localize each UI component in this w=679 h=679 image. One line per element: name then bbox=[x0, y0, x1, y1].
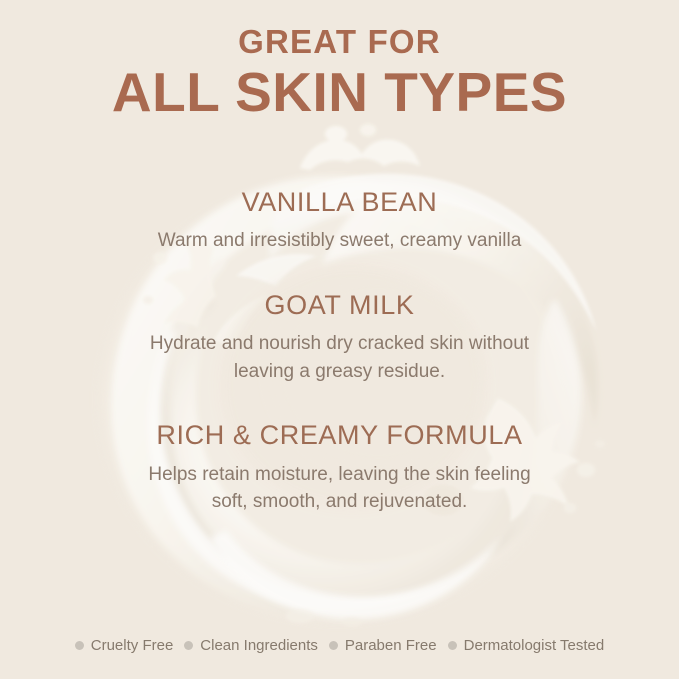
feature-description-line: Warm and irresistibly sweet, creamy vani… bbox=[0, 227, 679, 255]
feature-description: Helps retain moisture, leaving the skin … bbox=[0, 461, 679, 516]
badge-clean-ingredients: Clean Ingredients bbox=[184, 637, 318, 654]
feature-description: Hydrate and nourish dry cracked skin wit… bbox=[0, 330, 679, 385]
badge-dermatologist-tested: Dermatologist Tested bbox=[448, 637, 605, 654]
product-benefits-poster: GREAT FOR ALL SKIN TYPES VANILLA BEAN Wa… bbox=[0, 0, 679, 679]
feature-title: VANILLA BEAN bbox=[0, 186, 679, 218]
bullet-dot-icon bbox=[329, 641, 338, 650]
poster-content: GREAT FOR ALL SKIN TYPES VANILLA BEAN Wa… bbox=[0, 0, 679, 679]
claims-badge-row: Cruelty Free Clean Ingredients Paraben F… bbox=[0, 637, 679, 654]
badge-label: Cruelty Free bbox=[91, 637, 174, 654]
feature-goat-milk: GOAT MILK Hydrate and nourish dry cracke… bbox=[0, 289, 679, 385]
feature-description: Warm and irresistibly sweet, creamy vani… bbox=[0, 227, 679, 255]
feature-description-line: Helps retain moisture, leaving the skin … bbox=[0, 461, 679, 489]
feature-description-line: leaving a greasy residue. bbox=[0, 358, 679, 386]
badge-label: Dermatologist Tested bbox=[464, 637, 605, 654]
feature-title: RICH & CREAMY FORMULA bbox=[0, 419, 679, 451]
feature-description-line: soft, smooth, and rejuvenated. bbox=[0, 488, 679, 516]
badge-paraben-free: Paraben Free bbox=[329, 637, 437, 654]
bullet-dot-icon bbox=[75, 641, 84, 650]
headline-line-2: ALL SKIN TYPES bbox=[0, 62, 679, 124]
page-title: GREAT FOR ALL SKIN TYPES bbox=[0, 24, 679, 123]
headline-line-1: GREAT FOR bbox=[0, 24, 679, 60]
feature-description-line: Hydrate and nourish dry cracked skin wit… bbox=[0, 330, 679, 358]
feature-list: VANILLA BEAN Warm and irresistibly sweet… bbox=[0, 186, 679, 516]
badge-label: Paraben Free bbox=[345, 637, 437, 654]
badge-label: Clean Ingredients bbox=[200, 637, 318, 654]
bullet-dot-icon bbox=[448, 641, 457, 650]
bullet-dot-icon bbox=[184, 641, 193, 650]
feature-vanilla-bean: VANILLA BEAN Warm and irresistibly sweet… bbox=[0, 186, 679, 255]
feature-rich-creamy-formula: RICH & CREAMY FORMULA Helps retain moist… bbox=[0, 419, 679, 515]
badge-cruelty-free: Cruelty Free bbox=[75, 637, 174, 654]
feature-title: GOAT MILK bbox=[0, 289, 679, 321]
